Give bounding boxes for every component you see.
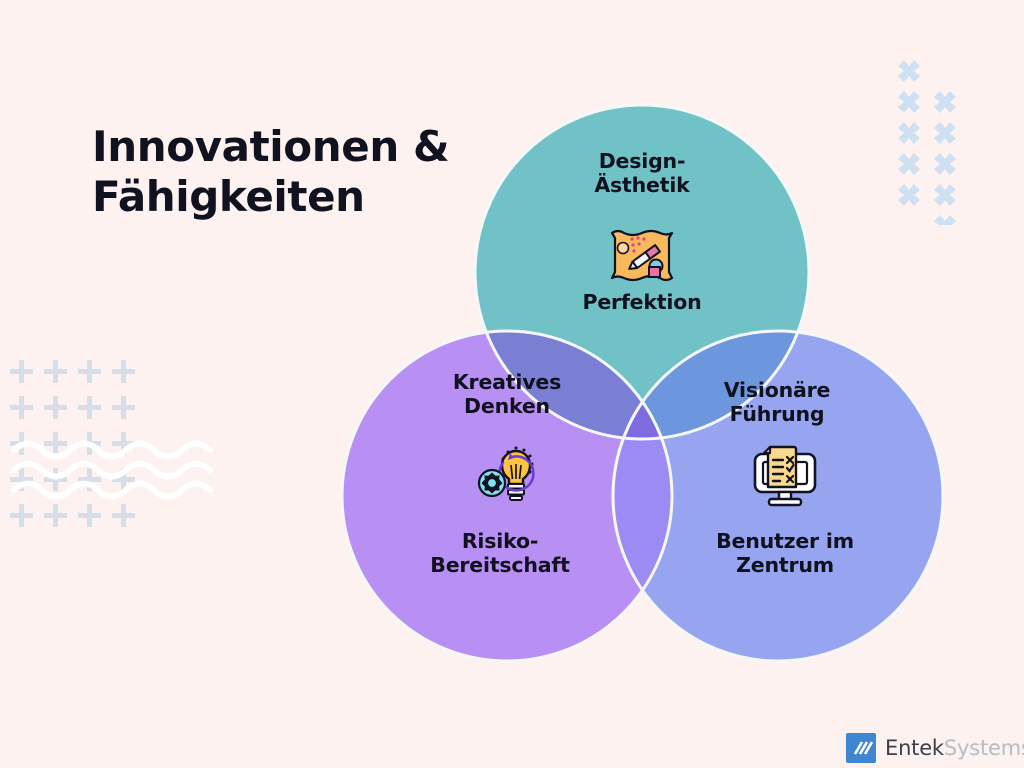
slashes-logo-icon bbox=[846, 733, 876, 763]
label-leadership-top: Visionäre Führung bbox=[677, 379, 877, 427]
lightbulb-gear-icon bbox=[470, 443, 542, 507]
label-design-top: Design- Ästhetik bbox=[542, 150, 742, 198]
brand-logo[interactable]: EntekSystems bbox=[846, 733, 1024, 763]
label-leadership-bottom: Benutzer im Zentrum bbox=[685, 530, 885, 578]
monitor-checklist-icon bbox=[750, 443, 820, 509]
slide-canvas: Innovationen & Fähigkeiten bbox=[0, 0, 1024, 768]
brand-name-primary: Entek bbox=[885, 736, 944, 760]
label-design-bottom: Perfektion bbox=[542, 291, 742, 315]
label-creative-top: Kreatives Denken bbox=[407, 371, 607, 419]
brand-name: EntekSystems bbox=[885, 736, 1024, 760]
label-creative-bottom: Risiko- Bereitschaft bbox=[399, 530, 601, 578]
brand-name-secondary: Systems bbox=[944, 736, 1024, 760]
design-scroll-pen-icon bbox=[605, 226, 677, 286]
